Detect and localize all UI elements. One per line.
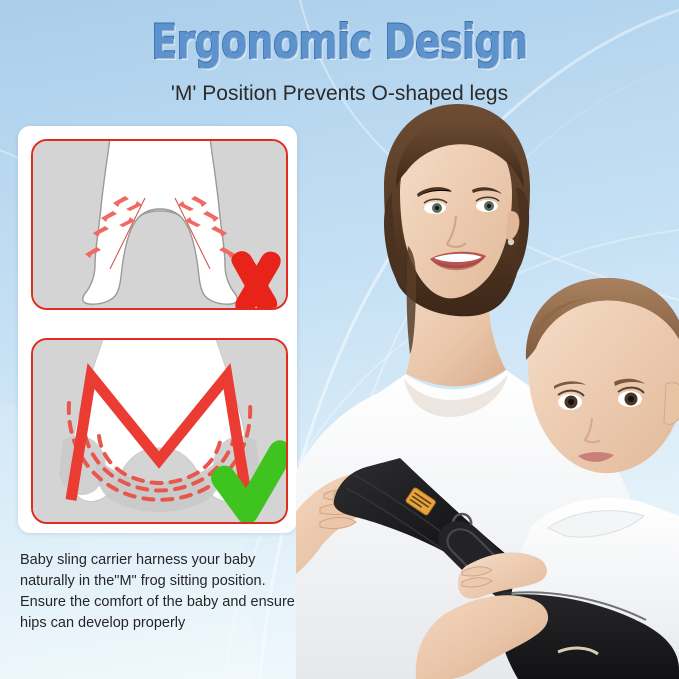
body-description: Baby sling carrier harness your baby nat…	[20, 550, 308, 634]
diagram-card	[18, 126, 297, 533]
product-feature-poster: Ergonomic Design 'M' Position Prevents O…	[0, 0, 679, 679]
diagram-bad-o-shaped-legs	[31, 139, 288, 310]
diagram-good-m-position	[31, 338, 288, 524]
lifestyle-photo	[296, 96, 679, 679]
page-title: Ergonomic Design	[68, 18, 611, 67]
